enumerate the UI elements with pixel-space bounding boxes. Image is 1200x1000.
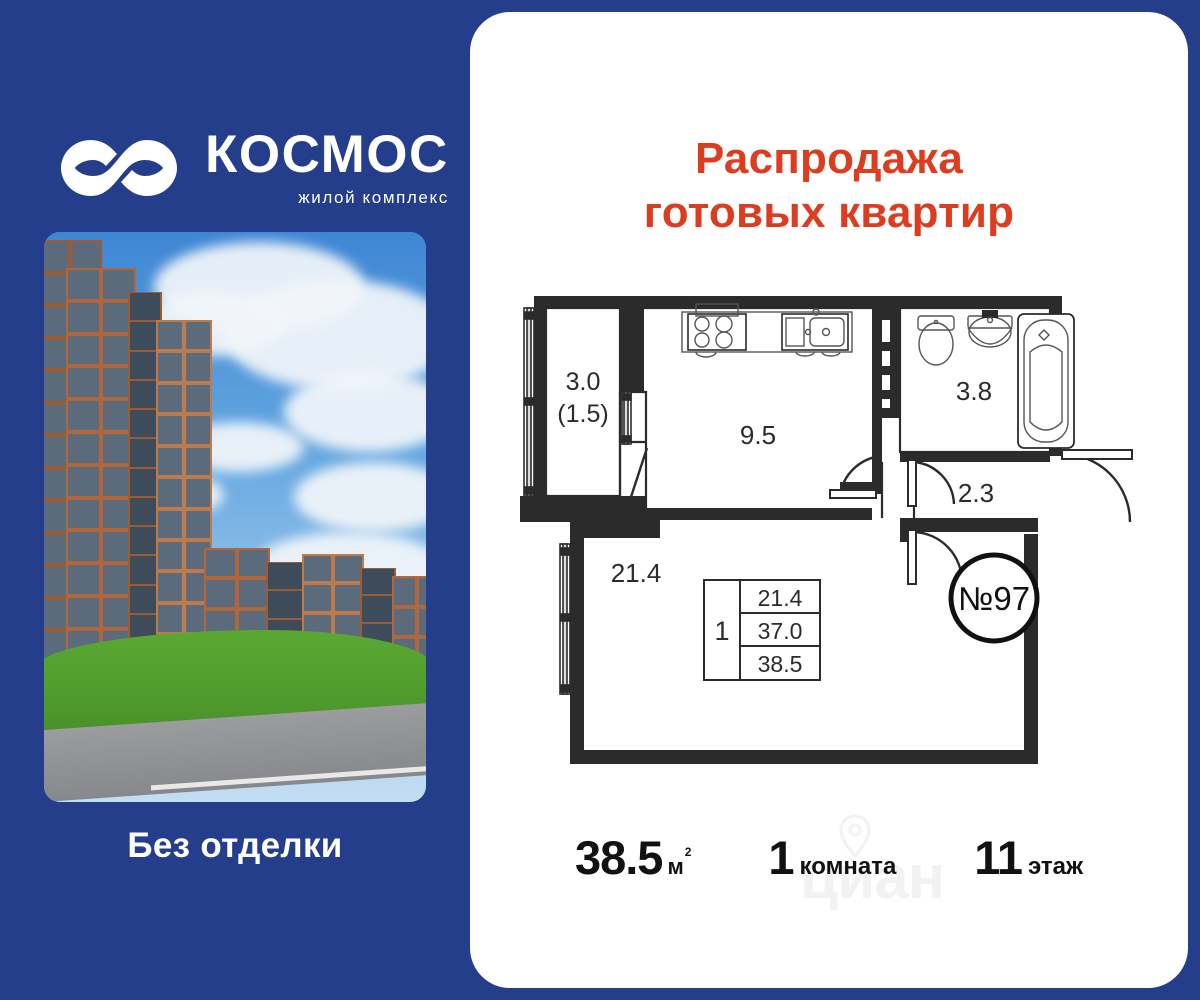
stat-area-unit-sup: 2 (685, 845, 692, 859)
brand-tagline: жилой комплекс (205, 188, 449, 208)
area-label-living: 21.4 (611, 558, 662, 588)
area-label-kitchen: 9.5 (740, 420, 776, 450)
stat-rooms-label: комната (800, 853, 897, 881)
stat-rooms-value: 1 (768, 830, 793, 885)
stat-floor-value: 11 (974, 830, 1022, 885)
building-photo (44, 232, 426, 802)
stat-area: 38.5 м2 (575, 830, 690, 885)
brand-logo: КОСМОС жилой комплекс (55, 128, 449, 208)
headline-line-1: Распродажа (470, 132, 1188, 186)
brand-panel: КОСМОС жилой комплекс (0, 0, 470, 1000)
brand-name: КОСМОС (205, 128, 449, 181)
finish-type-caption: Без отделки (0, 826, 470, 866)
stat-floor: 11 этаж (974, 830, 1083, 885)
stat-area-value: 38.5 (575, 830, 662, 885)
stat-floor-label: этаж (1028, 853, 1083, 881)
area-label-balcony-secondary: (1.5) (557, 400, 608, 428)
area-label-balcony: 3.0 (566, 368, 601, 396)
infinity-icon (55, 132, 183, 204)
summary-table: 1 21.4 37.0 38.5 (704, 580, 820, 680)
listing-card: Распродажа готовых квартир (470, 12, 1188, 988)
advertisement-card: КОСМОС жилой комплекс (0, 0, 1200, 1000)
apartment-number-text: №97 (958, 580, 1030, 617)
floor-plan-svg: 3.0 (1.5) 9.5 3.8 2.3 21.4 1 21.4 37.0 (510, 282, 1150, 782)
listing-stats: 38.5 м2 1 комната 11 этаж (470, 830, 1188, 885)
headline-line-2: готовых квартир (470, 186, 1188, 240)
area-label-hallway: 2.3 (958, 478, 994, 508)
summary-rooms-count: 1 (714, 616, 729, 646)
stat-rooms: 1 комната (768, 830, 896, 885)
stat-area-unit-text: м (667, 854, 683, 879)
page-title: Распродажа готовых квартир (470, 132, 1188, 239)
stat-area-unit: м2 (667, 854, 690, 880)
summary-living-area: 21.4 (758, 585, 803, 611)
summary-area-no-balcony: 37.0 (758, 618, 803, 644)
area-label-bathroom: 3.8 (956, 376, 992, 406)
summary-total-area: 38.5 (758, 651, 803, 677)
apartment-number-badge: №97 (951, 555, 1037, 641)
brand-wordmark: КОСМОС жилой комплекс (205, 128, 449, 208)
floor-plan: 3.0 (1.5) 9.5 3.8 2.3 21.4 1 21.4 37.0 (510, 282, 1150, 782)
